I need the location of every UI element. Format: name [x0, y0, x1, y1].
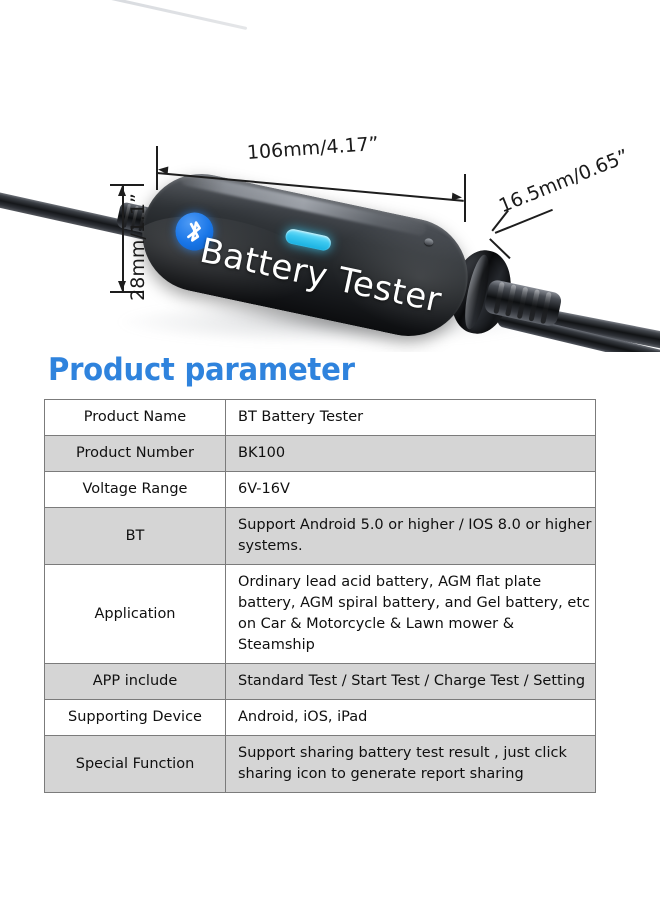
dimension-line-height — [122, 184, 124, 292]
table-row: Voltage Range 6V-16V — [45, 472, 596, 508]
table-cell-value: Standard Test / Start Test / Charge Test… — [226, 664, 596, 700]
table-cell-key: Application — [45, 565, 226, 664]
section-heading: Product parameter — [48, 352, 355, 388]
table-cell-key: Supporting Device — [45, 700, 226, 736]
table-cell-value: Ordinary lead acid battery, AGM flat pla… — [226, 565, 596, 664]
dimension-tick-length-right — [464, 174, 466, 222]
table-cell-key: Special Function — [45, 736, 226, 793]
table-row: BT Support Android 5.0 or higher / IOS 8… — [45, 508, 596, 565]
table-cell-value: Android, iOS, iPad — [226, 700, 596, 736]
dimension-arrow-length-right — [452, 193, 463, 202]
table-row: APP include Standard Test / Start Test /… — [45, 664, 596, 700]
table-row: Product Name BT Battery Tester — [45, 400, 596, 436]
table-cell-value: BK100 — [226, 436, 596, 472]
table-cell-key: Voltage Range — [45, 472, 226, 508]
table-cell-value: Support Android 5.0 or higher / IOS 8.0 … — [226, 508, 596, 565]
dimension-label-length: 106mm/4.17” — [246, 133, 379, 164]
dimension-arrow-height-top — [118, 186, 126, 196]
table-row: Application Ordinary lead acid battery, … — [45, 565, 596, 664]
table-cell-key: APP include — [45, 664, 226, 700]
table-cell-key: Product Name — [45, 400, 226, 436]
cable-left-highlight — [3, 0, 248, 30]
table-row: Product Number BK100 — [45, 436, 596, 472]
dimension-label-height: 28mm/1.1” — [127, 193, 149, 301]
table-cell-value: 6V-16V — [226, 472, 596, 508]
table-row: Special Function Support sharing battery… — [45, 736, 596, 793]
product-detail-page: Battery Tester 106mm/4.17” 28mm/1.1” 16.… — [0, 0, 660, 900]
table-body: Product Name BT Battery Tester Product N… — [45, 400, 596, 793]
table-cell-value: BT Battery Tester — [226, 400, 596, 436]
dimension-arrow-height-bottom — [118, 281, 126, 291]
product-parameter-table: Product Name BT Battery Tester Product N… — [44, 399, 596, 793]
dimension-tick-height-top — [110, 184, 144, 186]
dimension-label-thickness: 16.5mm/0.65” — [496, 145, 632, 217]
dimension-arrow-length-left — [158, 166, 169, 175]
table-cell-key: Product Number — [45, 436, 226, 472]
table-cell-value: Support sharing battery test result , ju… — [226, 736, 596, 793]
product-photo: Battery Tester 106mm/4.17” 28mm/1.1” 16.… — [0, 0, 660, 352]
table-cell-key: BT — [45, 508, 226, 565]
table-row: Supporting Device Android, iOS, iPad — [45, 700, 596, 736]
